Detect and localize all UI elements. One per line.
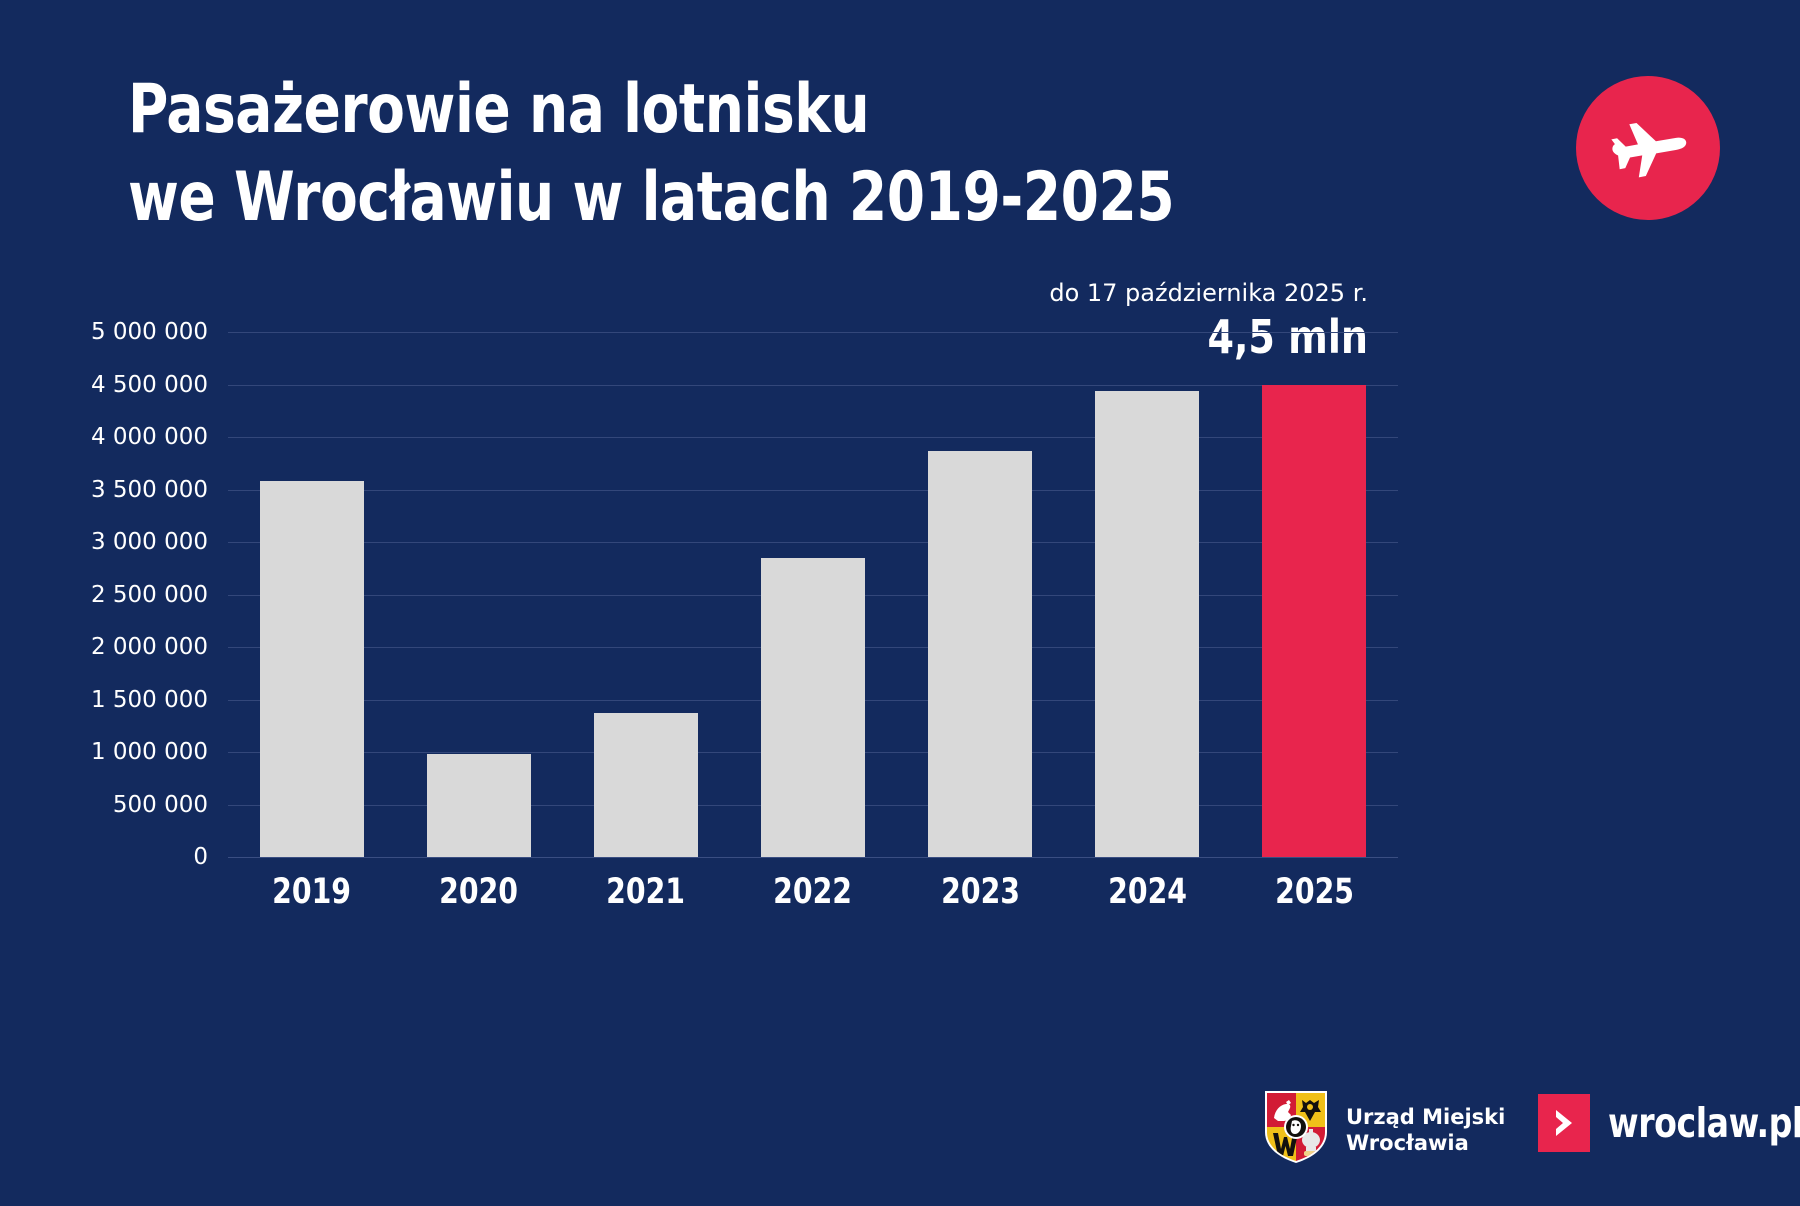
y-axis-tick-label: 5 000 000	[91, 319, 208, 345]
x-axis-labels: 2019202020212022202320242025	[228, 872, 1398, 932]
x-axis-tick-label: 2024	[1072, 872, 1222, 912]
y-axis-tick-label: 500 000	[113, 792, 208, 818]
bar-2022	[761, 558, 865, 857]
y-axis-tick-label: 1 000 000	[91, 739, 208, 765]
city-office-label: Urząd Miejski Wrocławia	[1346, 1104, 1505, 1156]
footer: Urząd Miejski Wrocławia wroclaw.pl	[0, 1080, 1800, 1206]
bar-series	[228, 332, 1398, 857]
wroclaw-pl-logo[interactable]: wroclaw.pl	[1538, 1094, 1800, 1152]
x-axis-tick-label: 2022	[738, 872, 888, 912]
x-axis-tick-label: 2019	[236, 872, 386, 912]
city-office-logo[interactable]: Urząd Miejski Wrocławia	[1262, 1088, 1505, 1171]
y-axis-tick-label: 3 500 000	[91, 477, 208, 503]
y-axis-tick-label: 2 000 000	[91, 634, 208, 660]
airplane-icon	[1576, 76, 1720, 220]
x-axis-tick-label: 2025	[1239, 872, 1389, 912]
y-axis-tick-label: 1 500 000	[91, 687, 208, 713]
bar-2020	[427, 754, 531, 857]
y-axis-tick-label: 4 500 000	[91, 372, 208, 398]
bar-2023	[928, 451, 1032, 857]
y-axis-tick-label: 2 500 000	[91, 582, 208, 608]
bar-2025	[1262, 385, 1366, 858]
x-axis-tick-label: 2021	[571, 872, 721, 912]
y-axis-tick-label: 4 000 000	[91, 424, 208, 450]
plot-area	[228, 332, 1398, 857]
annotation-date-note: do 17 października 2025 r.	[768, 278, 1368, 308]
bar-2021	[594, 713, 698, 857]
x-axis-tick-label: 2020	[403, 872, 553, 912]
y-axis-tick-label: 0	[193, 844, 208, 870]
page-title: Pasażerowie na lotnisku we Wrocławiu w l…	[128, 66, 1208, 243]
y-axis-labels: 0500 0001 000 0001 500 0002 000 0002 500…	[0, 332, 208, 857]
x-axis-tick-label: 2023	[905, 872, 1055, 912]
bar-2019	[260, 481, 364, 857]
wroclaw-coat-of-arms-icon	[1262, 1088, 1330, 1171]
wroclaw-pl-label: wroclaw.pl	[1608, 1099, 1800, 1147]
header: Pasażerowie na lotnisku we Wrocławiu w l…	[0, 0, 1800, 270]
bar-2024	[1095, 391, 1199, 857]
gridline	[228, 857, 1398, 858]
chevron-right-icon	[1538, 1094, 1590, 1152]
y-axis-tick-label: 3 000 000	[91, 529, 208, 555]
